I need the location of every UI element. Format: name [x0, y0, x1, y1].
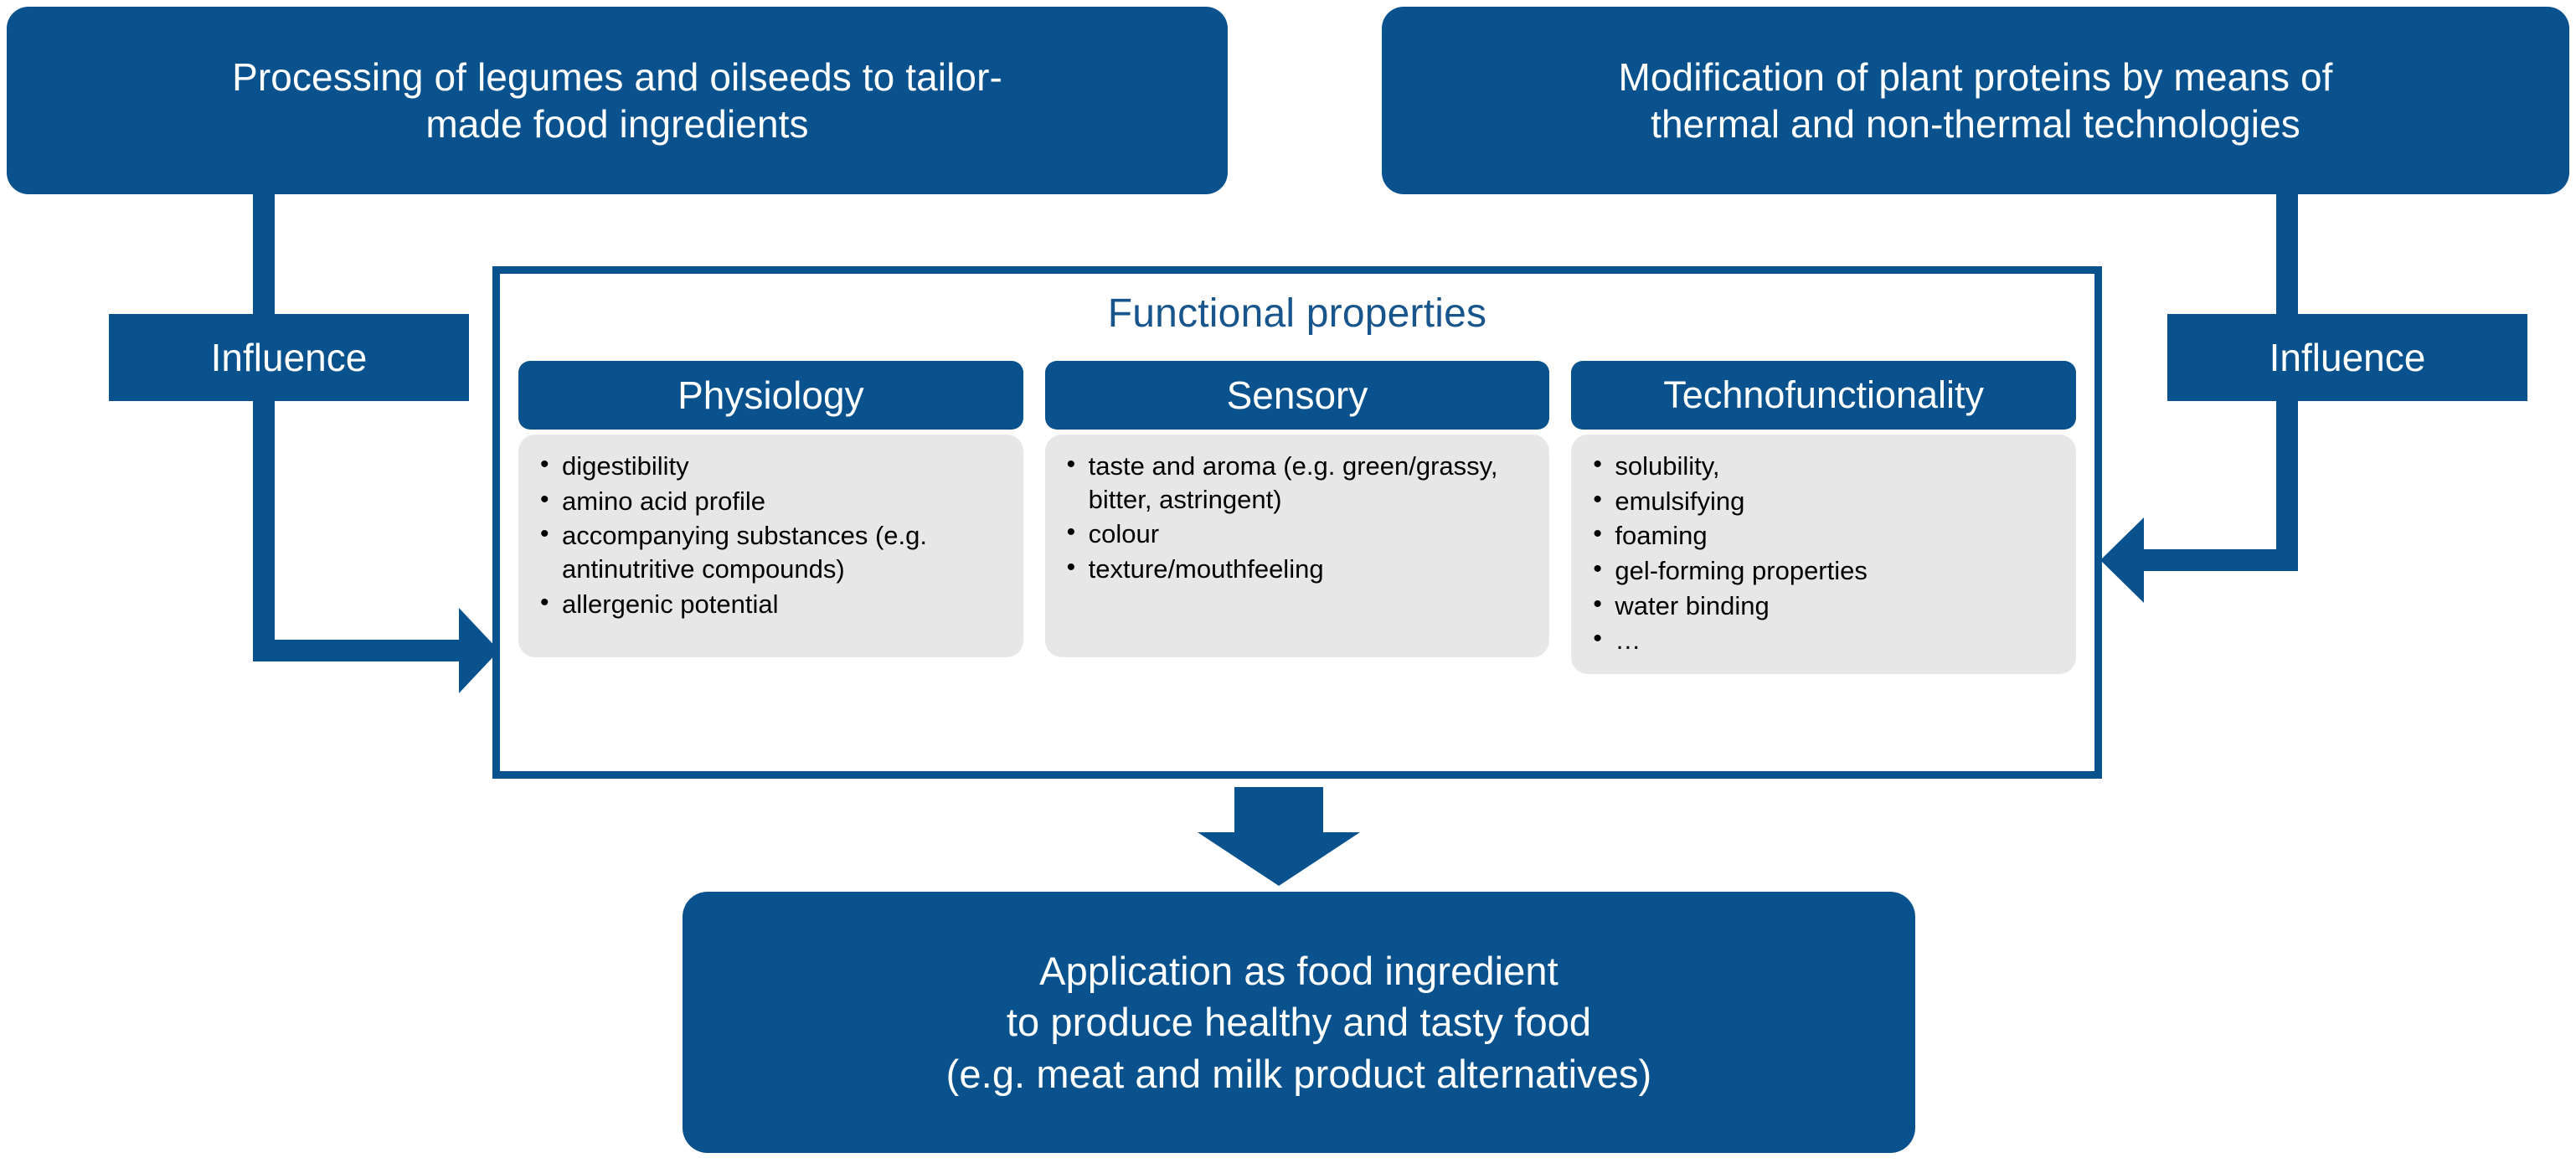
list-item: digestibility	[537, 450, 1012, 483]
functional-properties-title: Functional properties	[500, 274, 2094, 337]
right-connector-horizontal-line	[2144, 549, 2298, 571]
list-item: water binding	[1589, 589, 2064, 623]
influence-label-right: Influence	[2167, 314, 2527, 401]
list-item: allergenic potential	[537, 588, 1012, 621]
column-sensory-list: taste and aroma (e.g. green/grassy, bitt…	[1045, 435, 1550, 657]
list-item: colour	[1064, 517, 1538, 551]
column-technofunctionality: Technofunctionality solubility, emulsify…	[1571, 361, 2076, 674]
diagram-canvas: Processing of legumes and oilseeds to ta…	[0, 0, 2576, 1163]
application-as-food-ingredient-label: Application as food ingredient to produc…	[921, 945, 1677, 1099]
list-item: accompanying substances (e.g. antinutrit…	[537, 519, 1012, 585]
influence-label-left: Influence	[109, 314, 469, 401]
list-item: amino acid profile	[537, 485, 1012, 518]
left-connector-horizontal-line	[253, 640, 467, 661]
list-item: taste and aroma (e.g. green/grassy, bitt…	[1064, 450, 1538, 516]
influence-label-left-text: Influence	[211, 335, 368, 380]
column-technofunctionality-list: solubility, emulsifying foaming gel-form…	[1571, 435, 2076, 674]
left-connector-vertical-line	[253, 194, 275, 661]
arrow-left-icon	[2100, 517, 2144, 603]
modification-of-plant-proteins-label: Modification of plant proteins by means …	[1593, 54, 2357, 147]
column-technofunctionality-heading: Technofunctionality	[1571, 361, 2076, 430]
list-item: …	[1589, 624, 2064, 657]
influence-label-right-text: Influence	[2269, 335, 2426, 380]
list-item: foaming	[1589, 519, 2064, 553]
arrow-down-icon	[1198, 832, 1360, 886]
functional-properties-panel: Functional properties Physiology digesti…	[492, 266, 2102, 779]
modification-of-plant-proteins-box: Modification of plant proteins by means …	[1382, 7, 2569, 194]
column-physiology-heading: Physiology	[518, 361, 1023, 430]
arrow-down-icon-shaft	[1234, 787, 1323, 834]
application-as-food-ingredient-box: Application as food ingredient to produc…	[683, 892, 1915, 1153]
column-physiology-list: digestibility amino acid profile accompa…	[518, 435, 1023, 657]
list-item: solubility,	[1589, 450, 2064, 483]
column-sensory: Sensory taste and aroma (e.g. green/gras…	[1045, 361, 1550, 674]
column-physiology: Physiology digestibility amino acid prof…	[518, 361, 1023, 674]
column-sensory-heading: Sensory	[1045, 361, 1550, 430]
list-item: emulsifying	[1589, 485, 2064, 518]
list-item: texture/mouthfeeling	[1064, 553, 1538, 586]
processing-of-legumes-label: Processing of legumes and oilseeds to ta…	[207, 54, 1028, 147]
functional-properties-columns: Physiology digestibility amino acid prof…	[518, 361, 2076, 674]
processing-of-legumes-box: Processing of legumes and oilseeds to ta…	[7, 7, 1228, 194]
list-item: gel-forming properties	[1589, 554, 2064, 588]
